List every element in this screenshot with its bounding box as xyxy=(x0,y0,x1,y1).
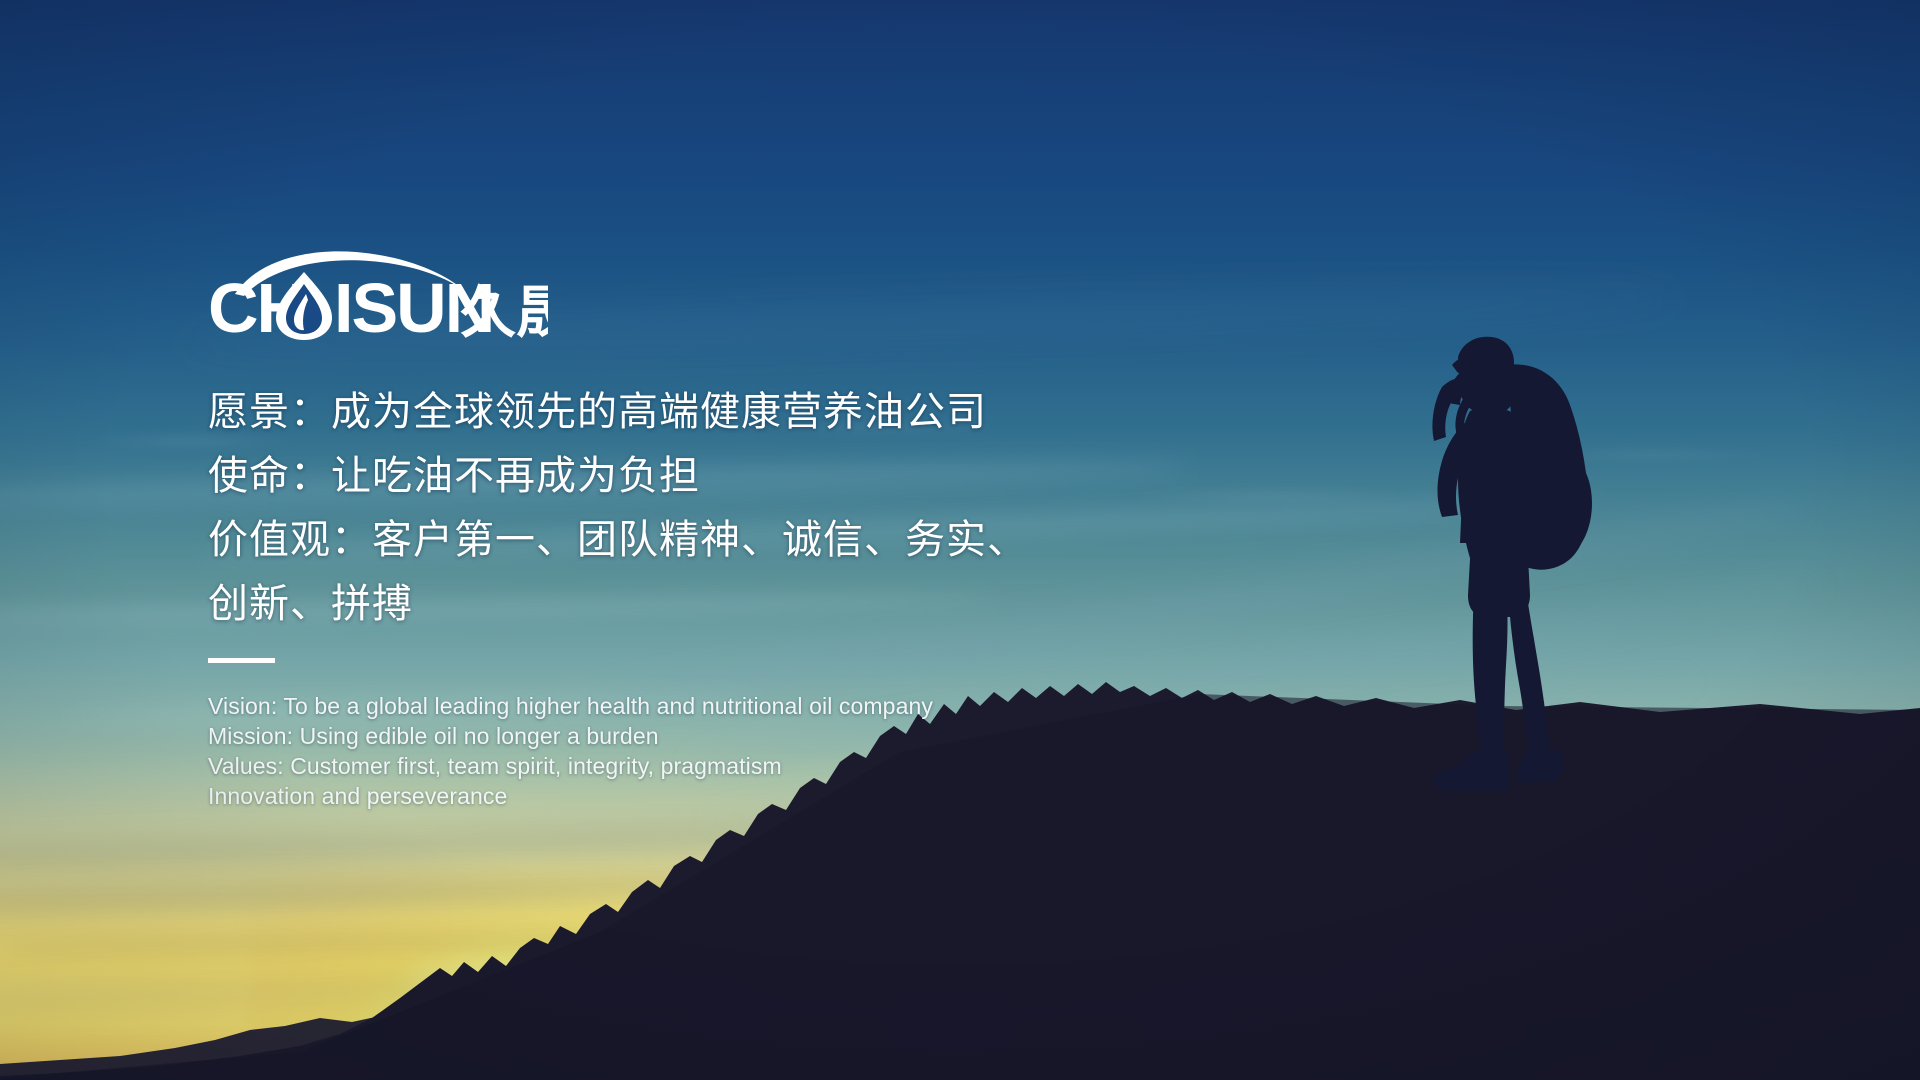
chinese-vision-line: 愿景：成为全球领先的高端健康营养油公司 xyxy=(208,380,1308,444)
slide-canvas: CH ISUN 久晟 愿景：成为全球领先的高端健康营养油公司 使命：让吃油不再成… xyxy=(0,0,1920,1080)
choisun-logo-mark: CH ISUN 久晟 xyxy=(208,248,548,344)
english-values-line-1: Values: Customer first, team spirit, int… xyxy=(208,751,1308,781)
content-block: CH ISUN 久晟 愿景：成为全球领先的高端健康营养油公司 使命：让吃油不再成… xyxy=(208,248,1308,811)
hiker-silhouette xyxy=(1378,333,1628,803)
section-divider xyxy=(208,658,275,663)
company-logo[interactable]: CH ISUN 久晟 xyxy=(208,248,548,344)
chinese-values-line-2: 创新、拼搏 xyxy=(208,572,1308,636)
english-statement-block: Vision: To be a global leading higher he… xyxy=(208,691,1308,811)
chinese-statement-block: 愿景：成为全球领先的高端健康营养油公司 使命：让吃油不再成为负担 价值观：客户第… xyxy=(208,380,1308,636)
svg-text:久晟: 久晟 xyxy=(460,281,548,344)
english-mission-line: Mission: Using edible oil no longer a bu… xyxy=(208,721,1308,751)
english-vision-line: Vision: To be a global leading higher he… xyxy=(208,691,1308,721)
chinese-mission-line: 使命：让吃油不再成为负担 xyxy=(208,444,1308,508)
chinese-values-line-1: 价值观：客户第一、团队精神、诚信、务实、 xyxy=(208,508,1308,572)
english-values-line-2: Innovation and perseverance xyxy=(208,781,1308,811)
